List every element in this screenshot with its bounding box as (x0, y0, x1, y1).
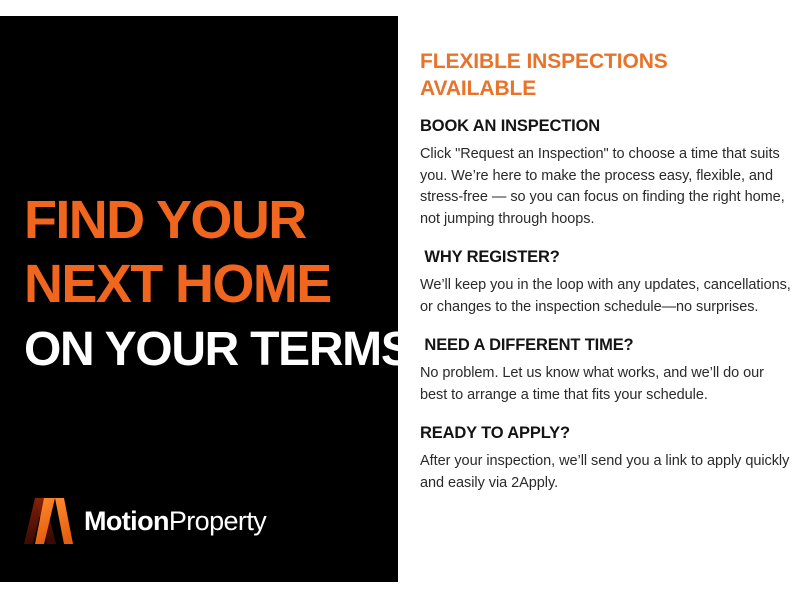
section-body-book-an-inspection: Click "Request an Inspection" to choose … (420, 144, 792, 230)
section-heading-need-a-different-time: NEED A DIFFERENT TIME? (420, 335, 792, 356)
page-root: FIND YOUR NEXT HOME ON YOUR TERMS (0, 0, 800, 600)
section-ready-to-apply: READY TO APPLY? After your inspection, w… (420, 423, 792, 494)
logo-word-motion: Motion (84, 506, 169, 536)
hero-headline: FIND YOUR NEXT HOME ON YOUR TERMS (24, 188, 384, 382)
section-body-ready-to-apply: After your inspection, we’ll send you a … (420, 451, 792, 494)
section-heading-ready-to-apply: READY TO APPLY? (420, 423, 792, 444)
brand-logo: MotionProperty (22, 498, 266, 544)
section-body-need-a-different-time: No problem. Let us know what works, and … (420, 363, 792, 406)
section-need-a-different-time: NEED A DIFFERENT TIME? No problem. Let u… (420, 335, 792, 406)
logo-word-property: Property (169, 506, 266, 536)
section-heading-book-an-inspection: BOOK AN INSPECTION (420, 116, 792, 137)
logo-m-svg (22, 498, 74, 544)
logo-wordmark: MotionProperty (84, 508, 266, 535)
section-body-why-register: We’ll keep you in the loop with any upda… (420, 275, 792, 318)
motion-property-m-mark-icon (22, 498, 74, 544)
content-column: FLEXIBLE INSPECTIONS AVAILABLE BOOK AN I… (420, 48, 792, 498)
hero-headline-line-3: ON YOUR TERMS (24, 318, 384, 382)
section-why-register: WHY REGISTER? We’ll keep you in the loop… (420, 247, 792, 318)
section-book-an-inspection: BOOK AN INSPECTION Click "Request an Ins… (420, 116, 792, 230)
hero-panel: FIND YOUR NEXT HOME ON YOUR TERMS (0, 16, 398, 582)
hero-headline-line-2: NEXT HOME (24, 252, 384, 316)
section-heading-why-register: WHY REGISTER? (420, 247, 792, 268)
hero-headline-line-1: FIND YOUR (24, 188, 384, 252)
page-title: FLEXIBLE INSPECTIONS AVAILABLE (420, 48, 690, 102)
